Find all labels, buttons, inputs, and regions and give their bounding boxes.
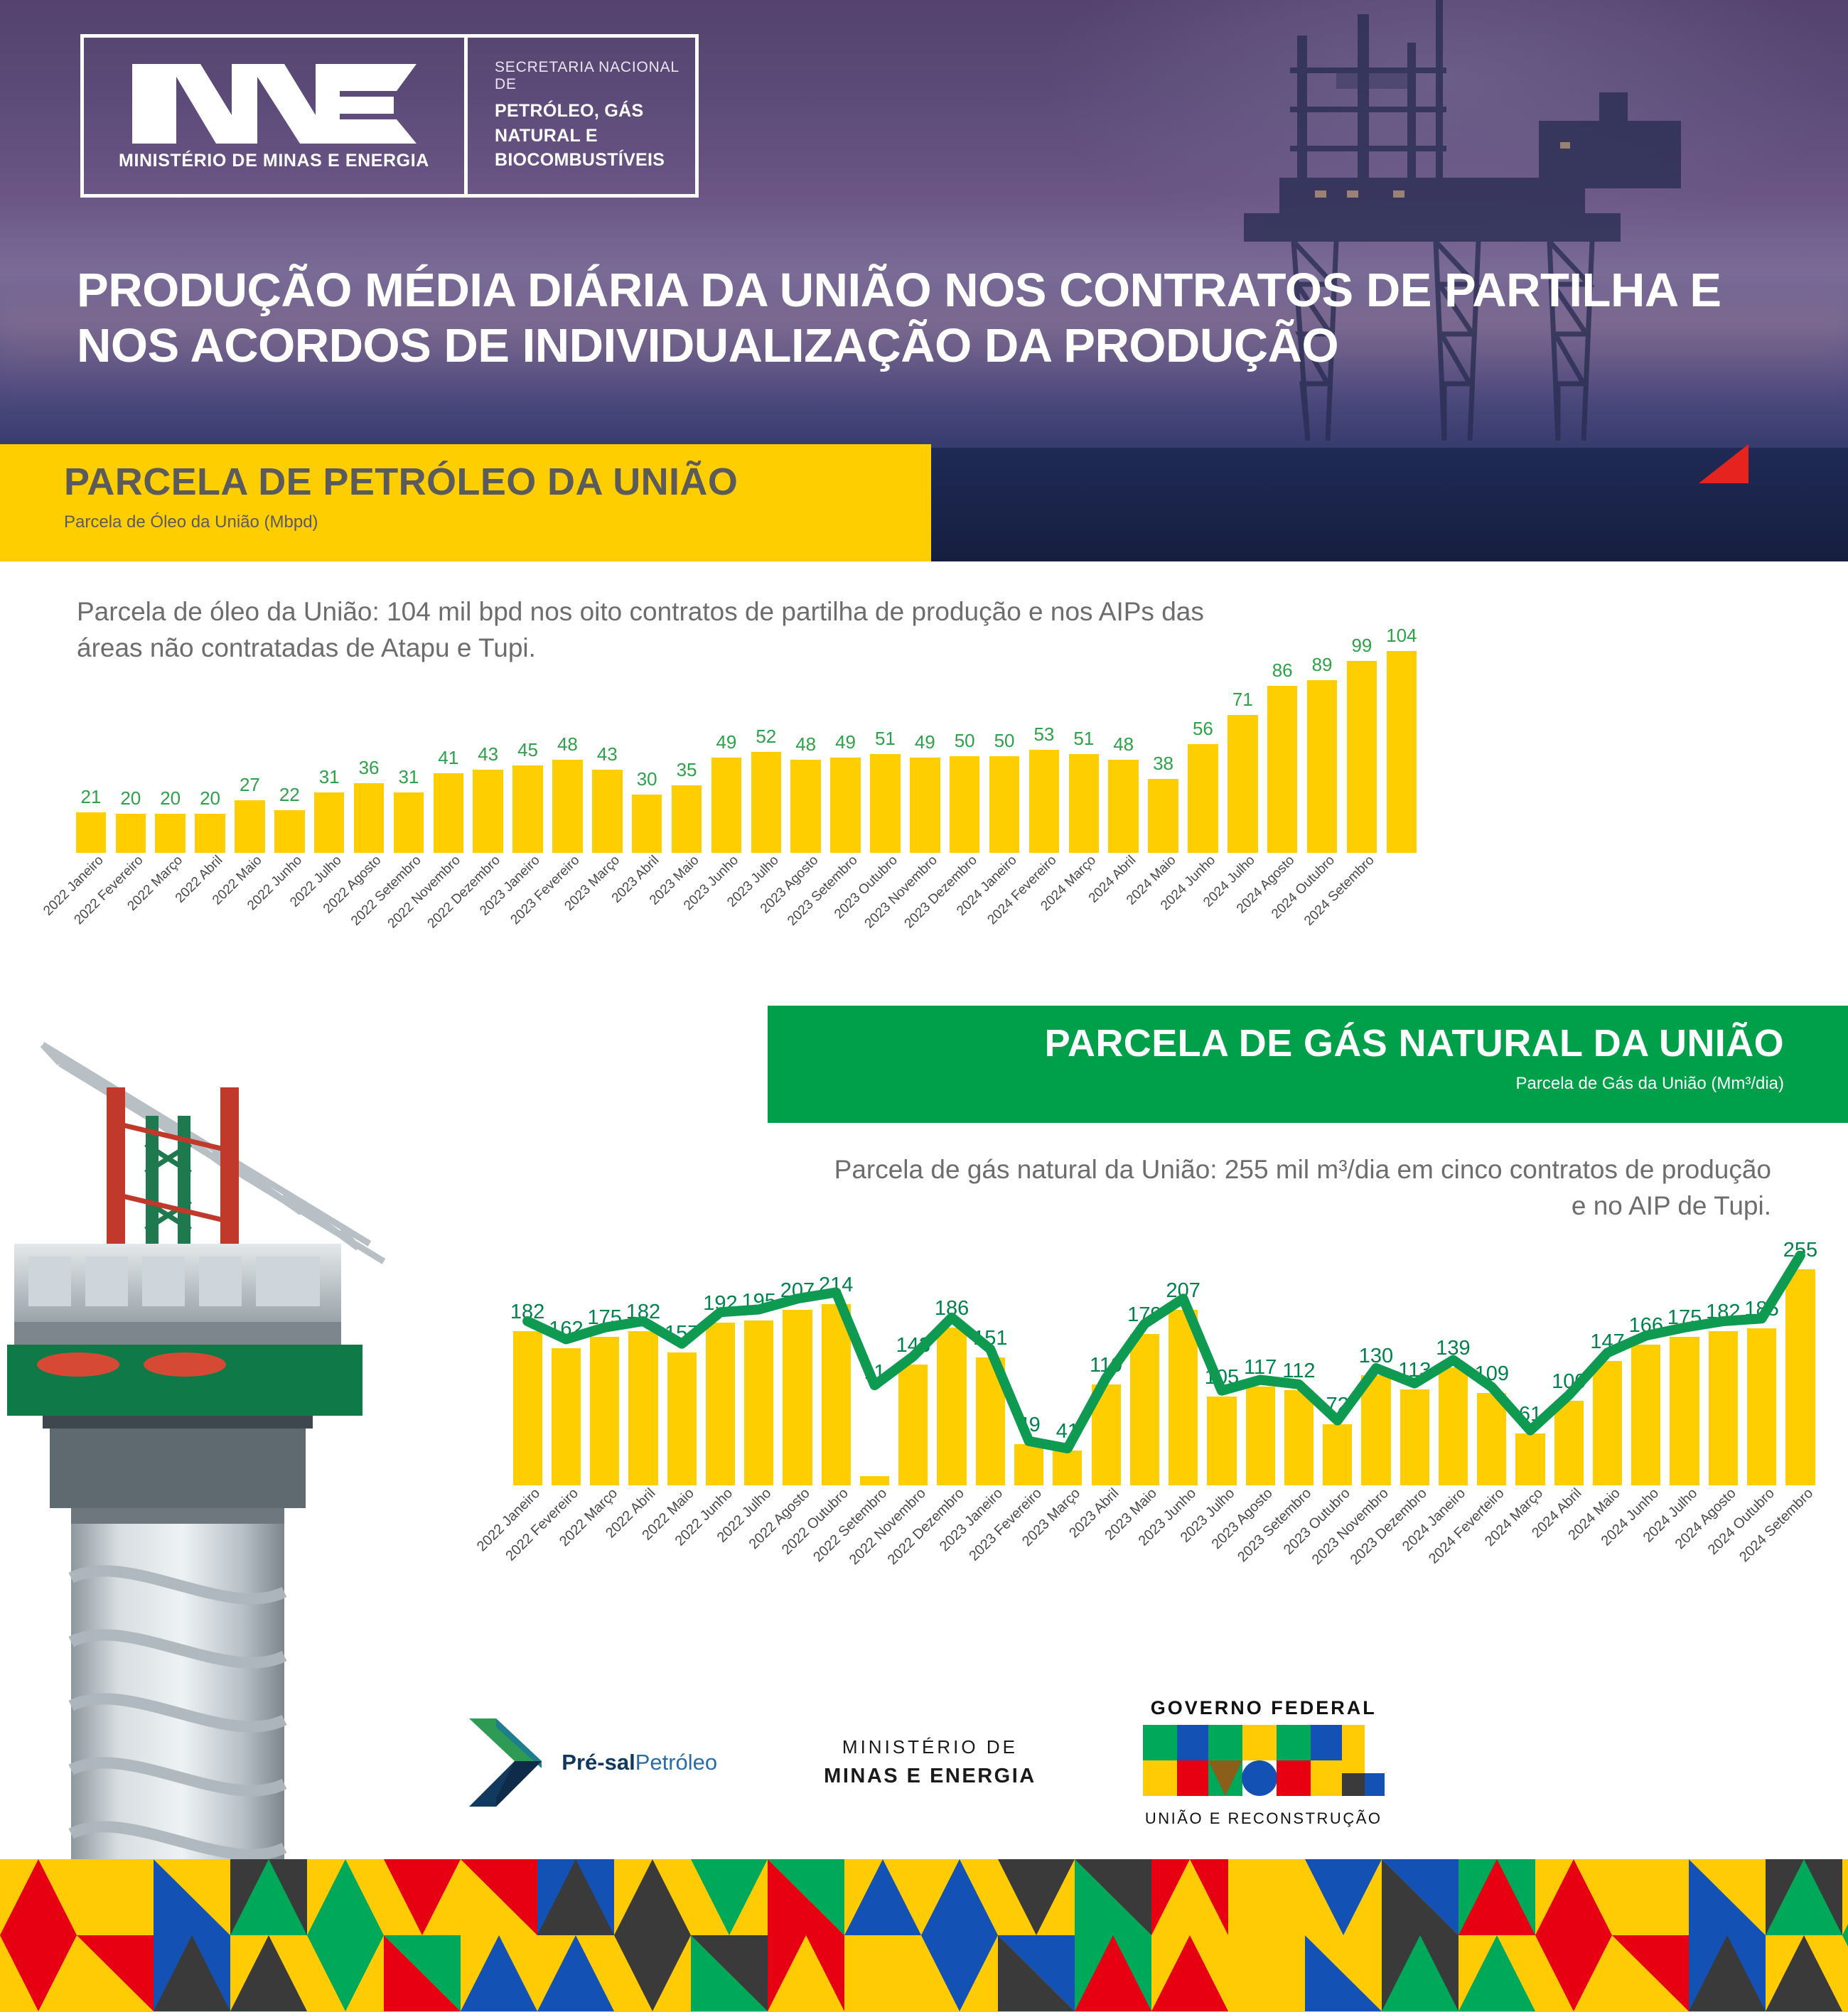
chart-bar [1785,1269,1815,1485]
chart-bar-slot: 109 [1473,1251,1511,1485]
bar-value-label: 104 [1386,625,1417,647]
chart-bar-slot: 43 [468,625,508,853]
mme-logo-box: MINISTÉRIO DE MINAS E ENERGIA SECRETARIA… [80,34,699,198]
bar-value-label: 49 [915,731,935,753]
chart-bar-slot: 192 [701,1251,739,1485]
chart-bar [434,773,463,853]
chart-bar [1361,1375,1390,1485]
chart-bar [473,770,503,853]
axis-tick-label: 2023 Fevereiro [508,853,584,928]
chart-bar [552,760,582,853]
secretariat-name: PETRÓLEO, GÁS NATURAL E BIOCOMBUSTÍVEIS [495,99,695,173]
bar-value-label: 49 [835,731,856,753]
axis-tick-label: 2024 Setembro [1301,853,1377,929]
bar-value-label: 48 [557,733,578,755]
chart-bar-slot: 175 [1665,1251,1704,1485]
bar-value-label: 53 [1033,723,1054,746]
chart-bar [1307,680,1337,853]
chart-bar-slot: 112 [1279,1251,1318,1485]
bar-value-label: 31 [398,766,419,788]
chart-bar [1347,661,1377,853]
mme-logo-left: MINISTÉRIO DE MINAS E ENERGIA [84,38,468,194]
secretariat-prefix: SECRETARIA NACIONAL DE [495,59,695,93]
chart-bar [870,754,900,853]
bar-value-label: 207 [1166,1279,1200,1303]
bar-value-label: 27 [240,774,260,796]
ministry-footer-logo: MINISTÉRIO DE MINAS E ENERGIA [824,1734,1036,1791]
axis-tick-label: 2022 Fevereiro [71,853,146,928]
chart-bar [822,1304,851,1485]
chart-bar [632,795,662,853]
chart-bar-slot: 61 [1511,1251,1549,1485]
bar-value-label: 36 [359,757,380,779]
red-flag-icon [1699,444,1748,483]
mme-logo-icon [132,64,417,144]
chart-bar [76,812,106,853]
chart-bar-slot: 119 [1087,1251,1125,1485]
chart-bar [274,810,304,853]
chart-bar-slot: 89 [1302,625,1342,853]
chart-bar [628,1331,657,1485]
bar-value-label: 41 [438,747,458,769]
chart-bar [830,758,860,853]
ministry-footer-line1: MINISTÉRIO DE [824,1734,1036,1761]
chart-bar [1670,1337,1699,1485]
chart-bar [1148,779,1178,853]
chart-bar [590,1337,619,1485]
chart-bar [1593,1361,1622,1485]
chart-bar [1029,750,1059,853]
chart-bar-slot: 21 [71,625,111,853]
chart-bar-slot: 20 [111,625,151,853]
bar-value-label: 71 [1232,689,1253,711]
chart-bar [1267,686,1297,853]
chart-bar [1108,760,1138,853]
chart-bar-slot: 36 [349,625,389,853]
bar-value-label: 50 [955,730,975,752]
bar-value-label: 48 [795,733,816,755]
chart-bar-slot: 139 [1434,1251,1472,1485]
chart-bar-slot: 162 [547,1251,585,1485]
gas-section-band: PARCELA DE GÁS NATURAL DA UNIÃO Parcela … [768,1006,1848,1123]
chart-bar-slot: 175 [586,1251,624,1485]
bar-value-label: 255 [1783,1239,1817,1262]
brasil-wordmark-icon [1143,1725,1385,1796]
chart-bar [1169,1310,1198,1485]
chart-bar-slot: 20 [190,625,230,853]
bar-value-label: 52 [756,726,776,748]
chart-bar-slot: 207 [778,1251,817,1485]
chart-bar-slot: 71 [1223,625,1262,853]
mme-secretariat: SECRETARIA NACIONAL DE PETRÓLEO, GÁS NAT… [468,38,695,194]
bar-value-label: 99 [1351,635,1372,657]
chart-bar-slot: 179 [1125,1251,1164,1485]
chart-bar-slot: 151 [971,1251,1009,1485]
ministry-footer-line2: MINAS E ENERGIA [824,1761,1036,1791]
chart-bar [116,814,146,853]
chart-bar-slot: 255 [1781,1251,1820,1485]
chart-bar [860,1476,889,1485]
gas-section-title: PARCELA DE GÁS NATURAL DA UNIÃO [768,1021,1784,1065]
chart-bar [1323,1424,1352,1485]
chart-bar [354,783,384,853]
chart-bar-slot: 48 [548,625,588,853]
bar-value-label: 119 [1090,1354,1122,1377]
bar-value-label: 117 [1244,1356,1277,1379]
chart-bar [1188,744,1218,853]
chart-bar-slot: 31 [389,625,429,853]
chart-bar-slot: 113 [1395,1251,1434,1485]
chart-bar-slot: 30 [627,625,667,853]
chart-bar-slot: 53 [1024,625,1064,853]
bar-value-label: 49 [716,731,736,753]
chart-bar [706,1323,735,1485]
bar-value-label: 112 [1282,1360,1315,1383]
bar-value-label: 186 [935,1297,969,1320]
chart-bar [950,756,979,853]
chart-bar [1554,1401,1584,1485]
bar-value-label: 89 [1312,654,1333,676]
chart-bar-slot: 51 [866,625,906,853]
chart-bar-slot: 48 [786,625,826,853]
oil-section-band: PARCELA DE PETRÓLEO DA UNIÃO Parcela de … [0,444,931,561]
governo-federal-tagline: UNIÃO E RECONSTRUÇÃO [1143,1809,1385,1828]
chart-bar-slot: 166 [1627,1251,1665,1485]
chart-bar [783,1310,812,1485]
gas-combo-chart: 1821621751821571921952072141114318615149… [508,1251,1820,1485]
bar-value-label: 139 [1436,1337,1470,1360]
bar-value-label: 166 [1629,1314,1663,1338]
chart-bar-slot: 27 [230,625,270,853]
presal-petroleo-logo: Pré-salPetróleo [463,1713,717,1812]
chart-bar-slot: 31 [309,625,349,853]
presal-chevron-icon [463,1713,549,1812]
bar-value-label: 35 [677,759,697,781]
chart-bar [1477,1393,1506,1485]
chart-bar [1747,1328,1776,1485]
bar-value-label: 182 [510,1301,544,1324]
oil-section-title: PARCELA DE PETRÓLEO DA UNIÃO [64,460,931,504]
bar-value-label: 157 [665,1322,699,1345]
chart-bar [394,792,424,853]
chart-bar-slot: 105 [1203,1251,1241,1485]
bar-value-label: 41 [1056,1420,1079,1443]
chart-bar-slot: 51 [1064,625,1104,853]
oil-section-subtitle: Parcela de Óleo da União (Mbpd) [64,512,931,532]
chart-bar-slot: 20 [151,625,190,853]
bar-value-label: 61 [1519,1403,1542,1426]
bar-value-label: 207 [780,1279,815,1303]
chart-bar-slot: 186 [933,1251,971,1485]
chart-bar-slot: 56 [1183,625,1223,853]
presal-light-text: Petróleo [635,1750,717,1775]
bar-value-label: 51 [1073,728,1094,750]
chart-bar [1053,1451,1082,1485]
page-title: PRODUÇÃO MÉDIA DIÁRIA DA UNIÃO NOS CONTR… [77,263,1783,375]
bar-value-label: 31 [319,766,340,788]
bar-value-label: 143 [896,1334,930,1357]
chart-bar [1014,1444,1043,1485]
chart-bar-slot: 41 [429,625,468,853]
bar-value-label: 43 [478,743,498,765]
chart-bar-slot: 52 [746,625,786,853]
offshore-rig-illustration [938,0,1720,497]
bar-value-label: 175 [1667,1306,1702,1330]
chart-bar-slot: 182 [508,1251,547,1485]
chart-bar [898,1365,928,1486]
chart-bar [744,1320,773,1486]
chart-bar-slot: 182 [1704,1251,1742,1485]
bar-value-label: 45 [517,739,538,761]
chart-bar-slot: 48 [1104,625,1144,853]
chart-bar-slot: 157 [662,1251,701,1485]
bar-value-label: 195 [742,1290,776,1313]
governo-federal-logo: GOVERNO FEDERAL UNIÃO E RECONSTRUÇÃO [1143,1697,1385,1828]
chart-bar-slot: 72 [1318,1251,1357,1485]
axis-tick-label: 2023 Setembro [785,853,861,929]
bar-value-label: 100 [1552,1370,1586,1394]
governo-federal-label: GOVERNO FEDERAL [1143,1697,1385,1719]
chart-bar-slot: 49 [826,625,866,853]
bar-value-label: 43 [597,743,618,765]
chart-bar-slot: 143 [894,1251,933,1485]
bar-value-label: 56 [1193,718,1213,740]
bar-value-label: 86 [1272,660,1293,682]
chart-bar [314,792,344,853]
chart-bar [751,752,781,853]
gas-chart-x-axis: 2022 Janeiro2022 Fevereiro2022 Março2022… [508,1485,1820,1642]
bar-value-label: 175 [587,1306,621,1330]
gas-lead-paragraph: Parcela de gás natural da União: 255 mil… [833,1151,1771,1224]
axis-tick-label: 2022 Setembro [348,853,424,929]
bar-value-label: 72 [1326,1394,1349,1417]
chart-bar [1709,1331,1738,1485]
chart-bar-slot: 50 [945,625,984,853]
chart-bar-slot: 117 [1241,1251,1279,1485]
chart-bar-slot: 214 [817,1251,855,1485]
bar-value-label: 22 [279,784,300,806]
chart-bar [235,800,264,853]
bar-value-label: 185 [1744,1298,1778,1321]
chart-bar-slot: 104 [1382,625,1422,853]
chart-bar-slot: 207 [1164,1251,1203,1485]
chart-bar [1130,1334,1159,1485]
bar-value-label: 38 [1153,753,1173,775]
bar-value-label: 20 [200,787,220,809]
chart-bar [1284,1390,1314,1485]
bar-value-label: 21 [80,786,101,808]
chart-bar [667,1352,697,1485]
bar-value-label: 20 [160,787,181,809]
chart-bar [976,1357,1005,1485]
chart-bar-slot: 50 [984,625,1024,853]
chart-bar [1439,1367,1468,1485]
bar-value-label: 20 [120,787,141,809]
chart-bar [1515,1433,1545,1485]
oil-chart-bars: 2120202027223136314143454843303549524849… [71,625,1422,853]
chart-bar [513,1331,542,1485]
chart-bar [1246,1387,1275,1486]
chart-bar [790,760,820,853]
chart-bar-slot: 130 [1357,1251,1395,1485]
bar-value-label: 30 [637,768,657,790]
bar-value-label: 151 [973,1327,1007,1350]
chart-bar-slot: 49 [905,625,945,853]
chart-bar [711,758,741,853]
bar-value-label: 182 [1706,1301,1740,1324]
presal-bold-text: Pré-sal [562,1750,635,1775]
chart-bar [1400,1389,1429,1485]
chart-bar [155,814,185,853]
chart-bar-slot: 99 [1342,625,1382,853]
chart-bar-slot: 147 [1588,1251,1626,1485]
bar-value-label: 214 [819,1274,853,1297]
bar-value-label: 147 [1590,1330,1624,1354]
chart-bar-slot: 182 [624,1251,662,1485]
chart-bar-slot: 49 [707,625,746,853]
bar-value-label: 113 [1398,1359,1431,1382]
chart-bar-slot: 35 [667,625,707,853]
axis-tick-label: 2024 Fevereiro [984,853,1060,928]
chart-bar-slot: 11 [855,1251,893,1485]
chart-bar [989,756,1019,853]
chart-bar-slot: 100 [1549,1251,1588,1485]
presal-wordmark: Pré-salPetróleo [562,1750,717,1775]
bar-value-label: 192 [703,1292,737,1316]
gas-section-subtitle: Parcela de Gás da União (Mm³/dia) [768,1074,1784,1094]
oil-bar-chart: 2120202027223136314143454843303549524849… [71,625,1422,853]
chart-bar [1069,754,1099,853]
chart-bar [195,814,225,853]
bar-value-label: 130 [1359,1345,1393,1368]
chart-bar-slot: 41 [1048,1251,1087,1485]
chart-bar [512,765,542,853]
chart-bar [910,758,940,853]
footer-logos: Pré-salPetróleo MINISTÉRIO DE MINAS E EN… [0,1699,1848,1827]
bar-value-label: 162 [549,1318,583,1341]
chart-bar-slot: 22 [269,625,309,853]
chart-bar [592,770,622,853]
chart-bar [1227,715,1257,853]
chart-bar [937,1328,966,1485]
chart-bar [1092,1384,1121,1485]
mme-ministry-line: MINISTÉRIO DE MINAS E ENERGIA [119,151,429,171]
chart-bar-slot: 43 [587,625,627,853]
chart-bar-slot: 195 [740,1251,778,1485]
bar-value-label: 179 [1127,1303,1161,1327]
chart-bar [552,1348,581,1485]
bar-value-label: 51 [875,728,896,750]
bar-value-label: 50 [994,730,1015,752]
chart-bar [1631,1345,1660,1485]
gas-chart-bars: 1821621751821571921952072141114318615149… [508,1251,1820,1485]
chart-bar-slot: 49 [1009,1251,1048,1485]
chart-bar-slot: 185 [1743,1251,1781,1485]
bar-value-label: 49 [1017,1414,1040,1437]
chart-bar [1387,651,1417,853]
bottom-decorative-pattern [0,1859,1848,2012]
chart-bar-slot: 38 [1144,625,1183,853]
chart-bar-slot: 45 [508,625,548,853]
bar-value-label: 109 [1475,1362,1509,1386]
bar-value-label: 105 [1205,1366,1239,1389]
bar-value-label: 48 [1113,733,1134,755]
bar-value-label: 11 [864,1361,885,1384]
bar-value-label: 182 [626,1301,660,1324]
chart-bar-slot: 86 [1262,625,1302,853]
chart-bar [1207,1397,1236,1485]
chart-bar [672,785,702,853]
